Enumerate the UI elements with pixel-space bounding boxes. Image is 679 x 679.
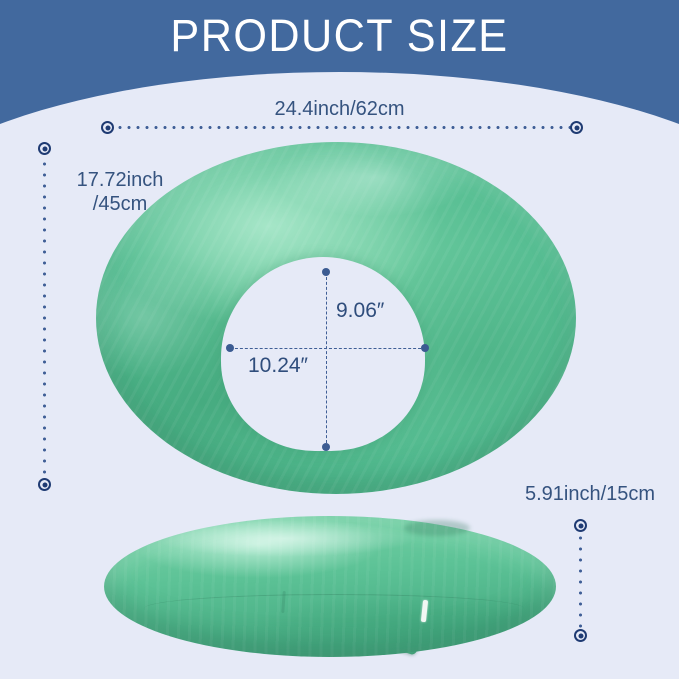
hole-width-marker-right — [421, 344, 429, 352]
pillow-side-seam — [144, 594, 524, 623]
hole-height-label: 9.06″ — [336, 300, 384, 322]
page-title: PRODUCT SIZE — [14, 10, 666, 62]
thickness-dimension-label: 5.91inch/15cm — [505, 482, 675, 506]
hole-height-marker-bottom — [322, 443, 330, 451]
height-dimension-label: 17.72inch /45cm — [50, 168, 190, 216]
thickness-dimension-line — [579, 530, 582, 634]
thickness-dimension-marker-bottom — [574, 629, 587, 642]
width-dimension-label: 24.4inch/62cm — [0, 97, 679, 121]
width-dimension-marker-left — [101, 121, 114, 134]
width-dimension-marker-right — [570, 121, 583, 134]
hole-height-marker-top — [322, 268, 330, 276]
hole-width-label: 10.24″ — [248, 355, 308, 377]
height-dimension-marker-bottom — [38, 478, 51, 491]
pillow-side-crease — [281, 591, 286, 613]
pillow-side-view — [104, 516, 556, 657]
pillow-side-notch — [404, 520, 470, 536]
product-size-infographic: PRODUCT SIZE 24.4inch/62cm 17.72inch /45… — [0, 0, 679, 679]
thickness-dimension-marker-top — [574, 519, 587, 532]
height-dimension-marker-top — [38, 142, 51, 155]
hole-width-dimension-line — [230, 348, 426, 349]
width-dimension-line — [112, 126, 578, 129]
pillow-care-tag — [421, 600, 428, 622]
hole-height-dimension-line — [326, 272, 327, 448]
hole-width-marker-left — [226, 344, 234, 352]
height-dimension-line — [43, 153, 46, 483]
